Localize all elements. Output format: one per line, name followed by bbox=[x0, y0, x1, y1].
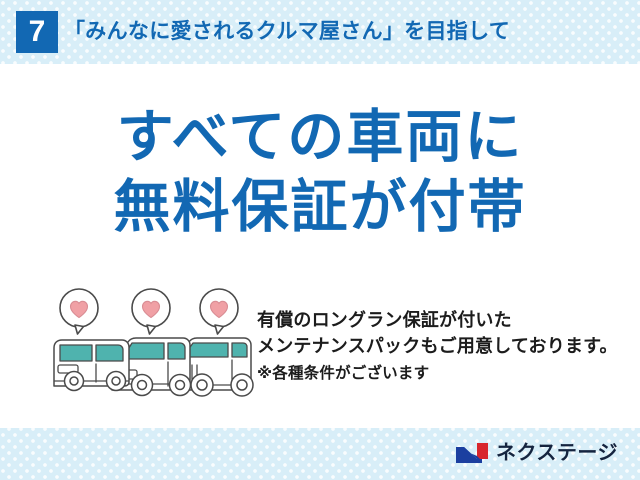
brand-name: ネクステージ bbox=[496, 441, 618, 465]
content-panel: すべての車両に 無料保証が付帯 bbox=[0, 64, 640, 428]
vehicle-kei-van bbox=[54, 340, 129, 391]
page-title: 「みんなに愛されるクルマ屋さん」を目指して bbox=[64, 14, 510, 50]
description-block: 有償のロングラン保証が付いた メンテナンスパックもご用意しております。 ※各種条… bbox=[257, 307, 627, 387]
section-number-badge: 7 bbox=[16, 11, 58, 53]
vehicles-illustration bbox=[46, 286, 258, 398]
description-line-2: メンテナンスパックもご用意しております。 bbox=[257, 333, 627, 359]
slide-root: 7 「みんなに愛されるクルマ屋さん」を目指して すべての車両に 無料保証が付帯 bbox=[0, 0, 640, 480]
headline-line-1: すべての車両に bbox=[0, 102, 640, 172]
description-line-1: 有償のロングラン保証が付いた bbox=[257, 307, 627, 333]
nextage-n-mark-icon bbox=[455, 441, 489, 465]
brand-logo: ネクステージ bbox=[455, 438, 618, 468]
headline-line-2: 無料保証が付帯 bbox=[0, 172, 640, 242]
slide-header: 7 「みんなに愛されるクルマ屋さん」を目指して bbox=[0, 0, 640, 64]
headline: すべての車両に 無料保証が付帯 bbox=[0, 102, 640, 242]
description-note: ※各種条件がございます bbox=[257, 361, 627, 387]
